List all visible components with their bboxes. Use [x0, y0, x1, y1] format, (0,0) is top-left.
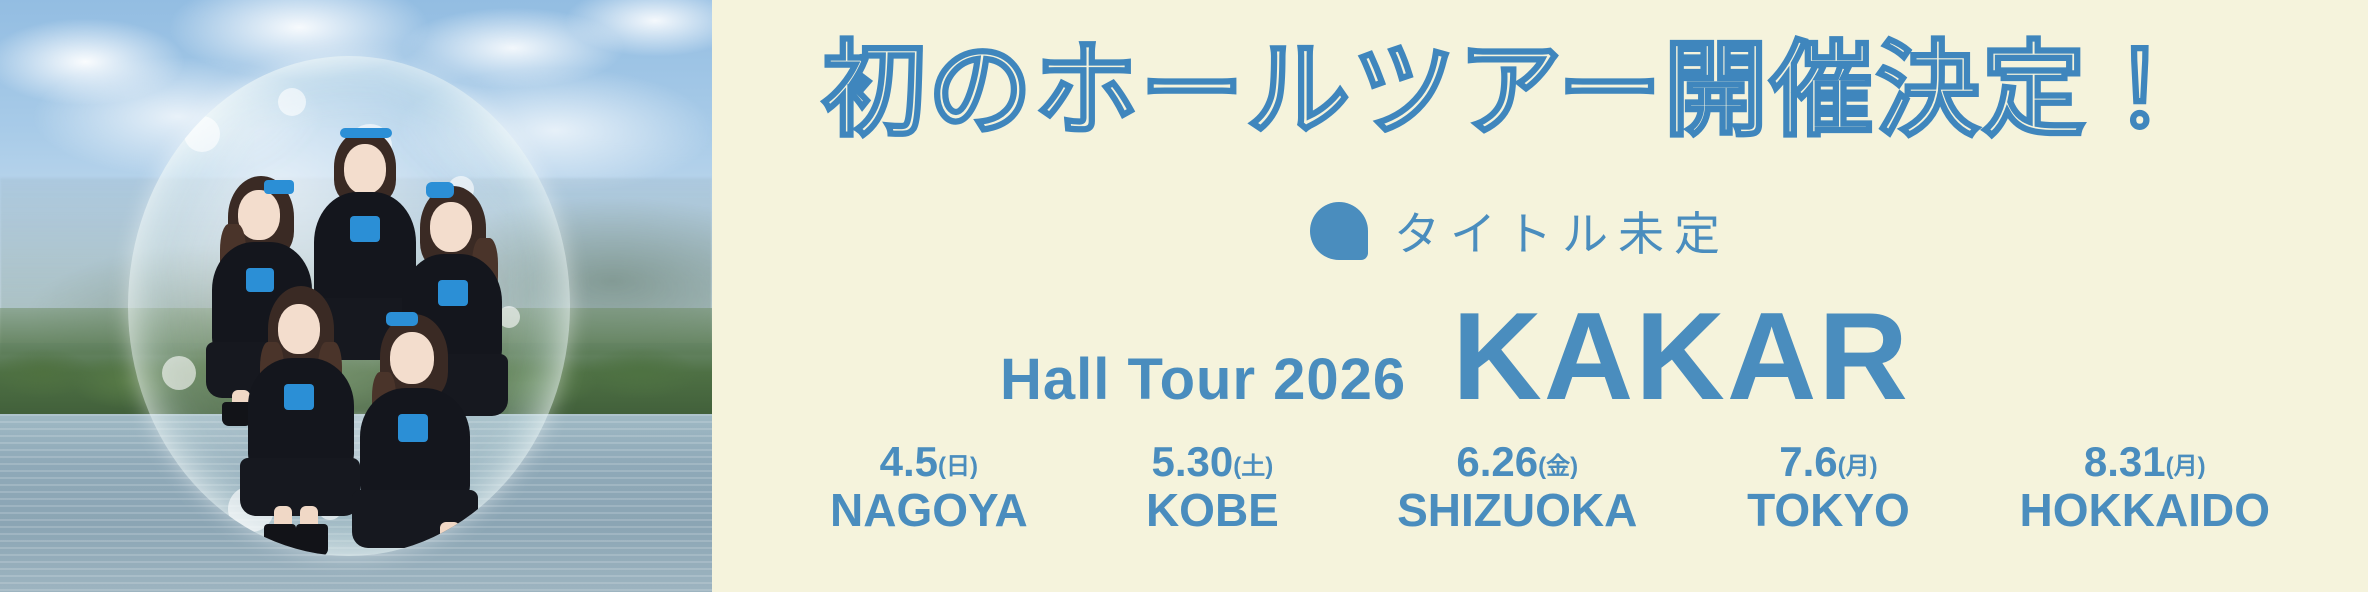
tour-date-city: HOKKAIDO [2020, 484, 2270, 537]
tour-date-number: 8.31 [2084, 438, 2166, 485]
tour-date-number: 7.6 [1779, 438, 1837, 485]
tour-prefix: Hall Tour 2026 [1000, 346, 1406, 413]
tour-date-city: NAGOYA [830, 484, 1028, 537]
group-name-row: タイトル未定 [1310, 198, 1730, 264]
tour-date-city: KOBE [1137, 484, 1287, 537]
tour-date-day: 8.31(月) [2020, 440, 2270, 484]
tour-date-city: TOKYO [1747, 484, 1910, 537]
tour-date-item[interactable]: 4.5(日) NAGOYA [830, 440, 1028, 537]
tour-date-number: 5.30 [1152, 438, 1234, 485]
group-members [128, 56, 570, 556]
tour-date-item[interactable]: 5.30(土) KOBE [1137, 440, 1287, 537]
member-figure [346, 314, 486, 556]
tour-date-day: 4.5(日) [830, 440, 1028, 484]
tour-title: KAKAR [1452, 300, 1910, 414]
tour-date-list: 4.5(日) NAGOYA 5.30(土) KOBE 6.26(金) SHIZU… [830, 440, 2270, 537]
tour-date-number: 4.5 [880, 438, 938, 485]
tour-date-city: SHIZUOKA [1397, 484, 1637, 537]
tour-date-day: 6.26(金) [1397, 440, 1637, 484]
tour-date-weekday: (日) [938, 453, 978, 480]
tour-date-day: 5.30(土) [1137, 440, 1287, 484]
artist-photo [0, 0, 712, 592]
group-name: タイトル未定 [1394, 198, 1730, 264]
tour-date-weekday: (金) [1538, 453, 1578, 480]
tour-date-item[interactable]: 6.26(金) SHIZUOKA [1397, 440, 1637, 537]
tour-date-number: 6.26 [1456, 438, 1538, 485]
tour-date-weekday: (土) [1233, 453, 1273, 480]
tour-announcement-banner: 初のホールツアー開催決定！ タイトル未定 Hall Tour 2026 KAKA… [0, 0, 2368, 592]
tour-date-weekday: (月) [2166, 453, 2206, 480]
bubble-sphere [128, 56, 570, 556]
tour-date-day: 7.6(月) [1747, 440, 1910, 484]
tour-date-item[interactable]: 8.31(月) HOKKAIDO [2020, 440, 2270, 537]
page-title: 初のホールツアー開催決定！ [822, 38, 2194, 142]
tour-title-row: Hall Tour 2026 KAKAR [1000, 300, 1910, 414]
speech-bubble-dot-icon [1310, 202, 1368, 260]
tour-date-item[interactable]: 7.6(月) TOKYO [1747, 440, 1910, 537]
tour-date-weekday: (月) [1838, 453, 1878, 480]
